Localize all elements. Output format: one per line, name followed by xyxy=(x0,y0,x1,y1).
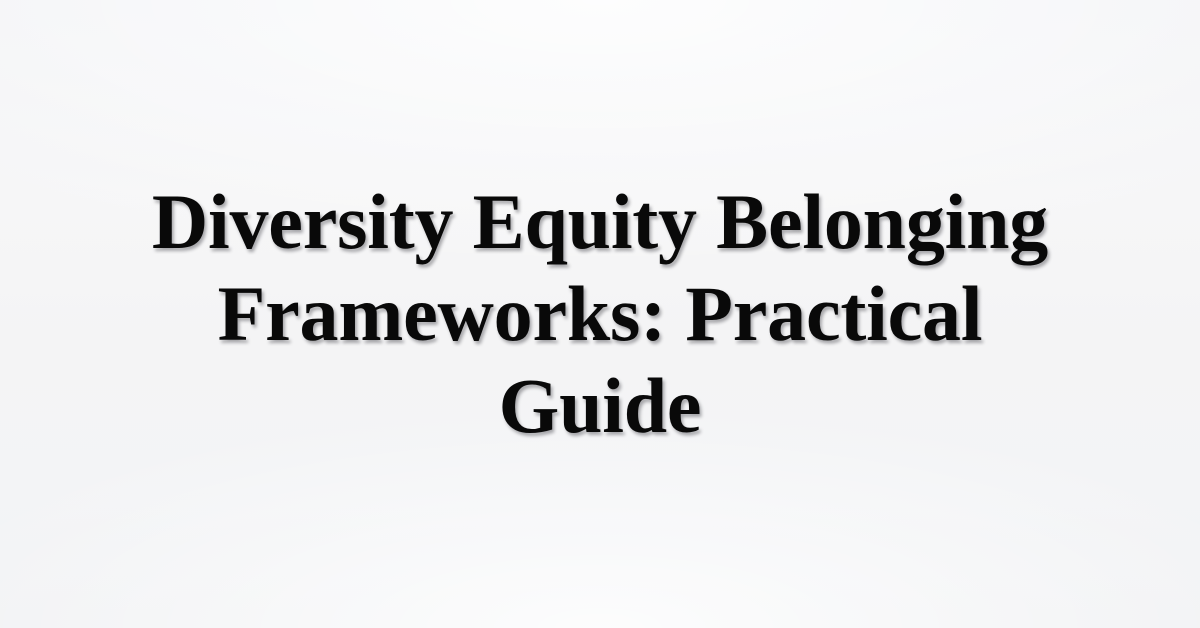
title-block: Diversity Equity Belonging Frameworks: P… xyxy=(0,0,1200,628)
title-card: Diversity Equity Belonging Frameworks: P… xyxy=(0,0,1200,628)
page-title: Diversity Equity Belonging Frameworks: P… xyxy=(150,176,1050,452)
